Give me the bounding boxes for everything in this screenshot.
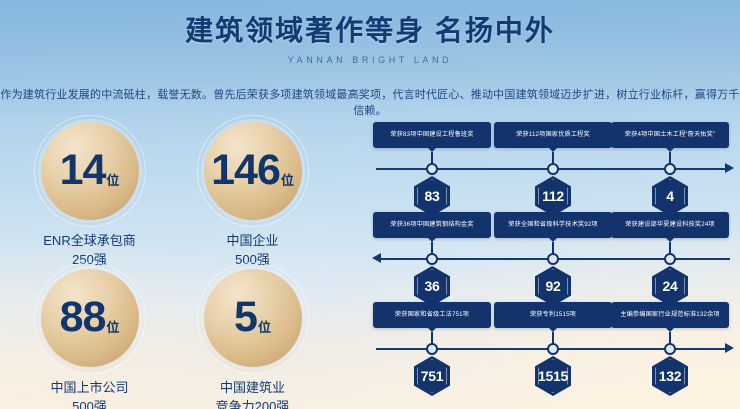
award-label: 荣获建设部华夏建设科技奖24项 [611,212,729,238]
timeline-node: 主编参编国家行业规范标准132余项 132 [611,302,729,328]
intro-paragraph: 作为建筑行业发展的中流砥柱，载誉无数。曾先后荣获多项建筑领域最高奖项，代言时代匠… [0,86,740,118]
award-label: 荣获36项中国建筑钢结构金奖 [373,212,491,238]
awards-timeline: 荣获83项中国建设工程鲁班奖 83 荣获112项国家优质工程奖 112 荣获4项… [372,122,734,404]
node-dot-icon [547,163,559,175]
page-title: 建筑领域著作等身 名扬中外 [0,14,740,48]
award-count-badge: 132 [652,356,688,396]
medal-badge: 88 位 [41,269,139,367]
award-count: 24 [663,278,678,294]
stat-value: 5 [234,298,257,338]
stat-label-line1: ENR全球承包商 [43,231,135,250]
timeline-node: 荣获全国和省级科学技术奖92项 92 [494,212,612,238]
award-count-badge: 112 [535,176,571,216]
award-count: 132 [659,368,681,384]
award-count: 83 [425,188,440,204]
stat-unit: 位 [106,321,119,338]
timeline-node: 荣获112项国家优质工程奖 112 [494,122,612,148]
award-label: 荣获国家和省级工法751项 [373,302,491,328]
stat-label-line2: 500强 [50,397,128,409]
node-dot-icon [426,343,438,355]
arrow-right-icon [725,343,734,353]
timeline-row: 荣获36项中国建筑钢结构金奖 36 荣获全国和省级科学技术奖92项 92 荣获建… [372,212,734,302]
award-count-badge: 1515 [535,356,571,396]
timeline-node: 荣获4项中国土木工程“詹天佑奖” 4 [611,122,729,148]
brand-subtitle: YANNAN BRIGHT LAND [0,55,740,65]
banner-header: 建筑领域著作等身 名扬中外 YANNAN BRIGHT LAND [0,14,740,65]
stat-label-line2: 竞争力200强 [216,397,290,409]
stat-label-line1: 中国建筑业 [216,378,290,397]
award-count-badge: 751 [414,356,450,396]
medal-badge: 5 位 [204,269,302,367]
node-dot-icon [426,253,438,265]
stat-card: 5 位 中国建筑业 竞争力200强 [171,269,334,409]
stats-grid: 14 位 ENR全球承包商 250强 146 位 中国企业 500强 [8,122,334,402]
stat-unit: 位 [106,174,119,191]
award-count: 92 [546,278,561,294]
award-count: 4 [666,188,674,204]
medal-badge: 14 位 [41,122,139,220]
award-label: 荣获专利1515项 [494,302,612,328]
timeline-node: 荣获专利1515项 1515 [494,302,612,328]
award-count: 36 [425,278,440,294]
award-label: 荣获83项中国建设工程鲁班奖 [373,122,491,148]
stat-label-line1: 中国上市公司 [50,378,128,397]
stat-label: 中国上市公司 500强 [50,378,128,409]
award-count-badge: 92 [535,266,571,306]
award-count: 112 [542,188,564,204]
node-dot-icon [547,253,559,265]
award-count-badge: 83 [414,176,450,216]
award-label: 荣获112项国家优质工程奖 [494,122,612,148]
award-count-badge: 24 [652,266,688,306]
stat-card: 88 位 中国上市公司 500强 [8,269,171,409]
medal-badge: 146 位 [204,122,302,220]
node-dot-icon [664,253,676,265]
stat-value: 14 [60,151,106,191]
timeline-node: 荣获83项中国建设工程鲁班奖 83 [373,122,491,148]
timeline-node: 荣获国家和省级工法751项 751 [373,302,491,328]
node-dot-icon [547,343,559,355]
stat-unit: 位 [281,174,294,191]
award-label: 主编参编国家行业规范标准132余项 [611,302,729,328]
node-dot-icon [426,163,438,175]
node-dot-icon [664,163,676,175]
node-dot-icon [664,343,676,355]
award-count-badge: 36 [414,266,450,306]
timeline-node: 荣获建设部华夏建设科技奖24项 24 [611,212,729,238]
stat-unit: 位 [258,321,271,338]
arrow-left-icon [372,253,381,263]
timeline-node: 荣获36项中国建筑钢结构金奖 36 [373,212,491,238]
award-label: 荣获4项中国土木工程“詹天佑奖” [611,122,729,148]
stat-label: 中国建筑业 竞争力200强 [216,378,290,409]
stat-card: 146 位 中国企业 500强 [171,122,334,269]
promo-banner: 建筑领域著作等身 名扬中外 YANNAN BRIGHT LAND 作为建筑行业发… [0,0,740,409]
award-count: 1515 [538,368,568,384]
stat-card: 14 位 ENR全球承包商 250强 [8,122,171,269]
arrow-right-icon [725,163,734,173]
timeline-row: 荣获国家和省级工法751项 751 荣获专利1515项 1515 主编参编国家行… [372,302,734,392]
stat-label-line1: 中国企业 [226,231,278,250]
award-count-badge: 4 [652,176,688,216]
stat-value: 146 [211,151,280,191]
award-label: 荣获全国和省级科学技术奖92项 [494,212,612,238]
award-count: 751 [421,368,443,384]
timeline-row: 荣获83项中国建设工程鲁班奖 83 荣获112项国家优质工程奖 112 荣获4项… [372,122,734,212]
stat-value: 88 [60,298,106,338]
